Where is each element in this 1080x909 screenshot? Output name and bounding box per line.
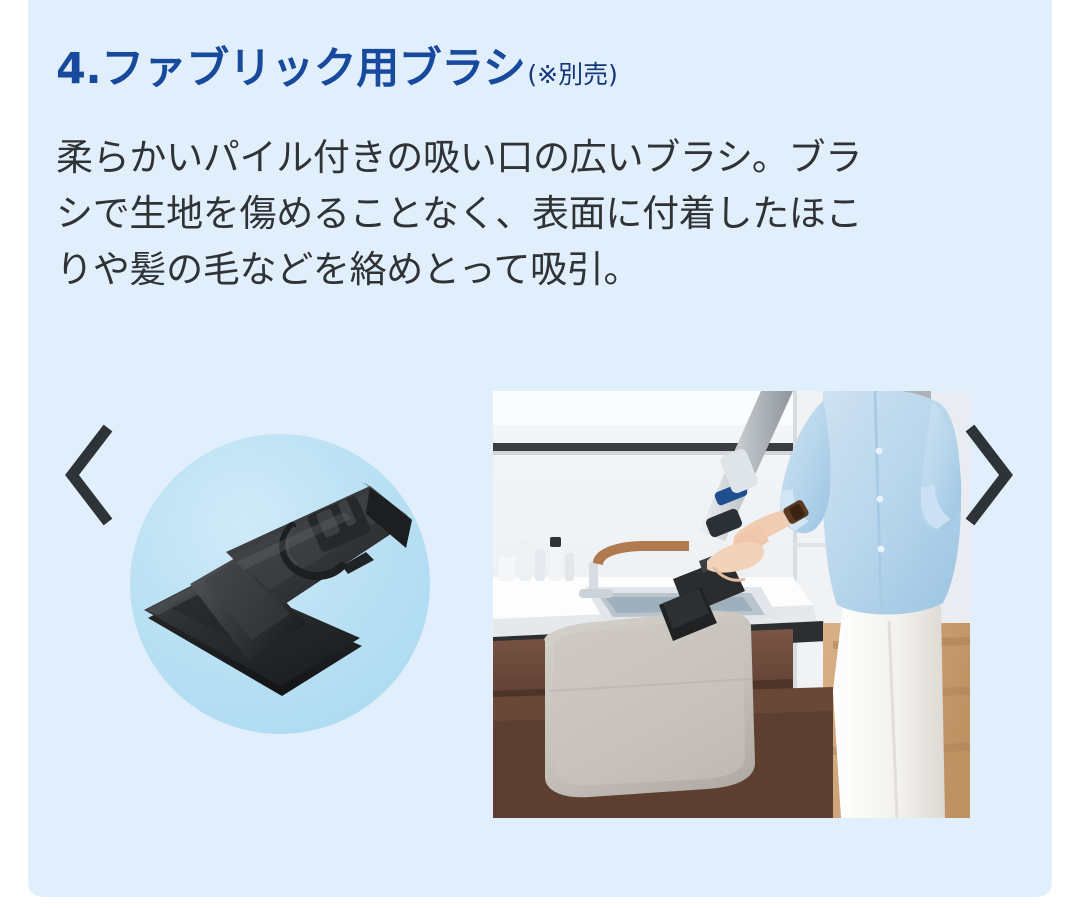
- feature-description: 柔らかいパイル付きの吸い口の広いブラシ。ブラ シで生地を傷めることなく、表面に付…: [56, 130, 976, 299]
- carousel-prev-button[interactable]: [62, 420, 118, 530]
- description-line-1: 柔らかいパイル付きの吸い口の広いブラシ。ブラ: [56, 130, 976, 186]
- heading-note-text: (※別売): [527, 62, 617, 87]
- chevron-right-icon: [960, 420, 1016, 530]
- description-line-2: シで生地を傷めることなく、表面に付着したほこ: [56, 186, 976, 242]
- product-image: [130, 434, 430, 734]
- chevron-left-icon: [62, 420, 118, 530]
- carousel-next-button[interactable]: [960, 420, 1016, 530]
- product-feature-slide: 4.ファブリック用ブラシ (※別売) 柔らかいパイル付きの吸い口の広いブラシ。ブ…: [0, 0, 1080, 909]
- page-title: 4.ファブリック用ブラシ (※別売): [56, 48, 956, 91]
- heading-main-text: 4.ファブリック用ブラシ: [56, 48, 525, 91]
- lifestyle-image: [493, 391, 970, 818]
- description-line-3: りや髪の毛などを絡めとって吸引。: [56, 242, 976, 298]
- fabric-brush-nozzle-illustration: [130, 434, 430, 734]
- cleaning-scene-illustration: [493, 391, 970, 818]
